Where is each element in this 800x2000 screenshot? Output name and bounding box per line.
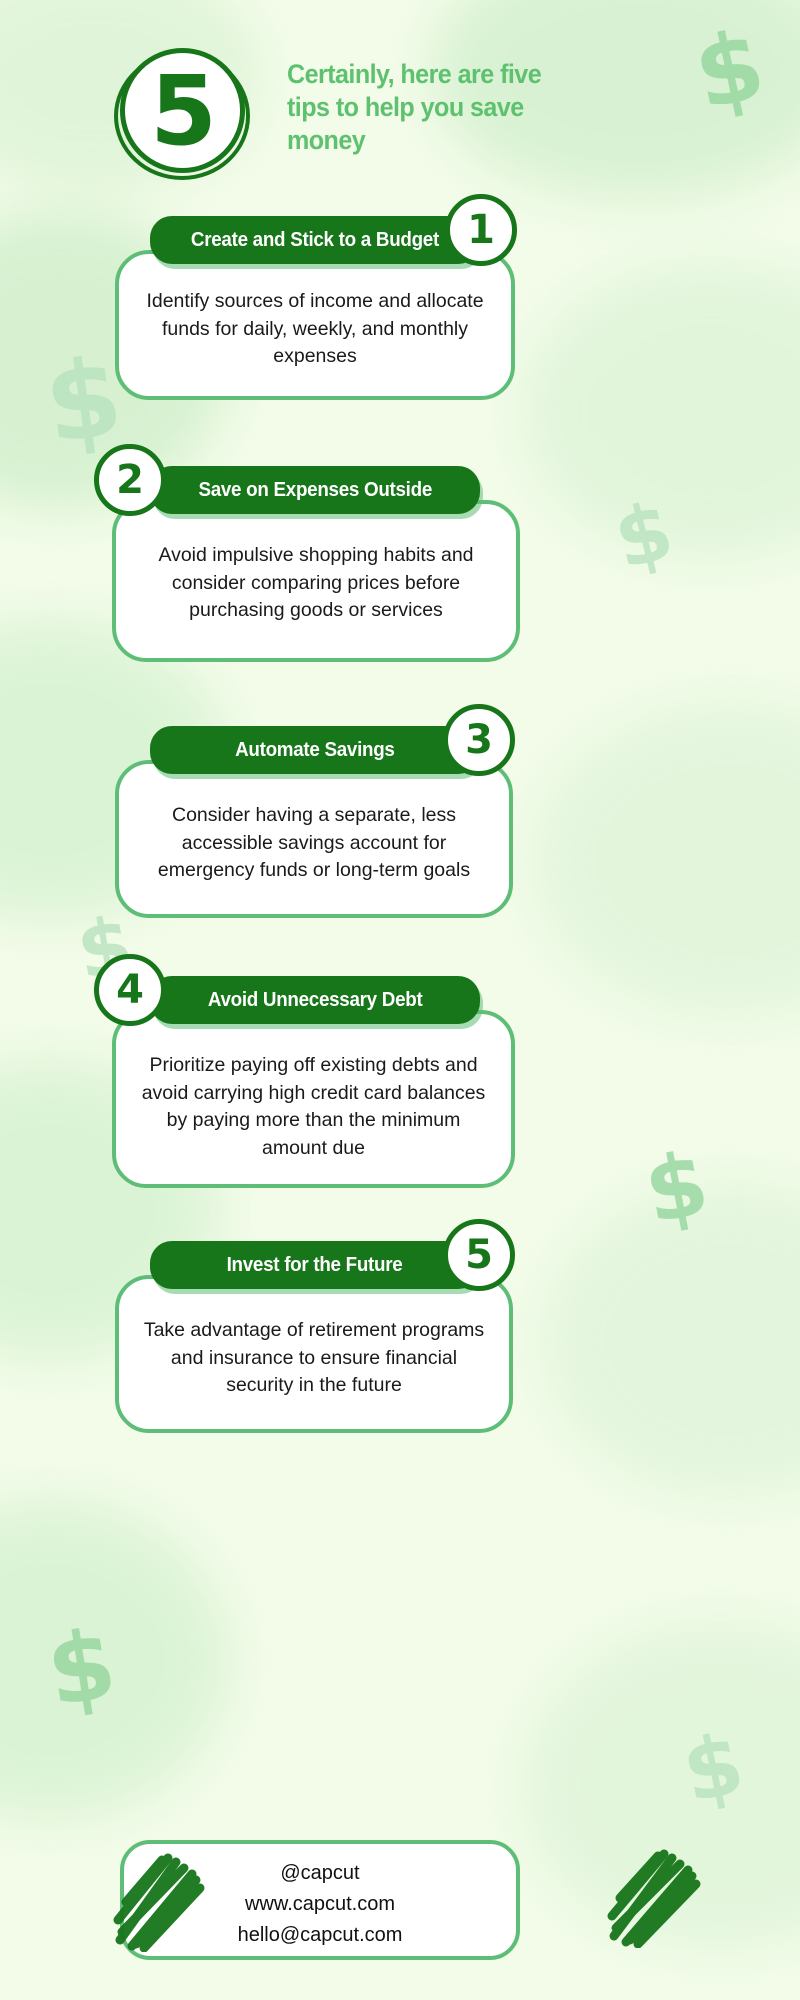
tip-number-badge-3: 3 [443, 704, 515, 776]
watercolor-cloud [520, 1620, 800, 1950]
tip-number-badge-value: 4 [116, 970, 144, 1010]
tip-card-title: Avoid Unnecessary Debt [208, 989, 423, 1012]
footer-email[interactable]: hello@capcut.com [120, 1920, 520, 1951]
infographic-header: 5 Certainly, here are five tips to help … [0, 0, 800, 200]
tip-card-header-pill: Save on Expenses Outside [150, 466, 480, 514]
tip-card-title: Save on Expenses Outside [198, 479, 432, 502]
page-title: Certainly, here are five tips to help yo… [287, 58, 566, 157]
tip-card-header-pill: Avoid Unnecessary Debt [150, 976, 480, 1024]
footer-contact-lines: @capcut www.capcut.com hello@capcut.com [120, 1858, 520, 1951]
tip-number-badge-value: 5 [465, 1235, 493, 1275]
tip-card-title: Create and Stick to a Budget [191, 229, 439, 252]
tip-number-badge-value: 2 [116, 460, 144, 500]
tip-card-description: Take advantage of retirement programs an… [135, 1317, 493, 1400]
tip-card-description: Consider having a separate, less accessi… [135, 802, 493, 885]
watercolor-cloud [530, 700, 800, 1020]
tip-number-badge-5: 5 [443, 1219, 515, 1291]
contact-footer: @capcut www.capcut.com hello@capcut.com [120, 1840, 520, 1960]
tip-number-badge-value: 3 [465, 720, 493, 760]
watercolor-cloud [0, 1500, 230, 1820]
tip-card-header-pill: Invest for the Future [150, 1241, 480, 1289]
footer-website[interactable]: www.capcut.com [120, 1889, 520, 1920]
footer-handle: @capcut [120, 1858, 520, 1889]
tip-number-badge-1: 1 [445, 194, 517, 266]
tip-card-title: Automate Savings [235, 739, 395, 762]
tip-card-header-pill: Automate Savings [150, 726, 480, 774]
tip-card-description: Prioritize paying off existing debts and… [132, 1052, 495, 1163]
tip-card-description: Identify sources of income and allocate … [135, 288, 495, 371]
hero-badge-number: 5 [120, 48, 245, 173]
tip-number-badge-2: 2 [94, 444, 166, 516]
tip-card-title: Invest for the Future [227, 1254, 403, 1277]
tip-card-header-pill: Create and Stick to a Budget [150, 216, 480, 264]
tip-number-badge-value: 1 [467, 210, 495, 250]
tip-card-description: Avoid impulsive shopping habits and cons… [132, 542, 500, 625]
tip-number-badge-4: 4 [94, 954, 166, 1026]
